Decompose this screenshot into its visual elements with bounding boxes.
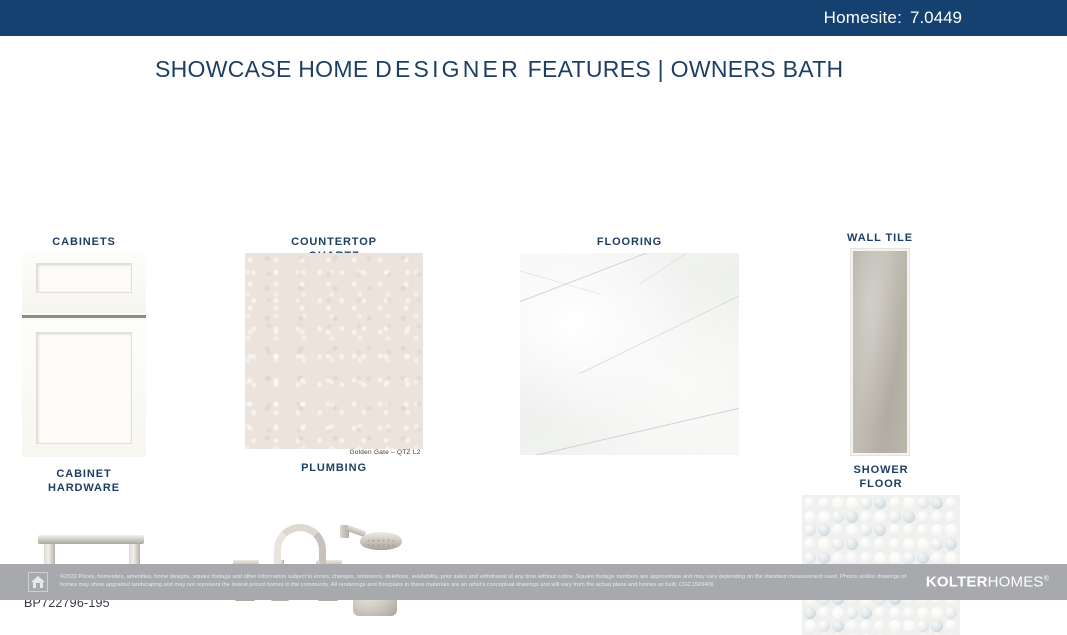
penny-tile xyxy=(945,538,957,550)
homesite-label: Homesite: xyxy=(824,8,902,28)
penny-tile xyxy=(903,538,915,550)
page-title-designer: DESIGNER xyxy=(375,56,521,82)
shower-floor-label-line2: FLOOR xyxy=(802,477,960,491)
penny-tile xyxy=(945,497,957,509)
cabinet-reveal-line xyxy=(22,315,146,318)
penny-tile xyxy=(804,620,816,632)
penny-tile xyxy=(903,620,915,632)
homesite-value: 7.0449 xyxy=(910,8,962,28)
penny-tile xyxy=(860,538,872,550)
cabinet-swatch xyxy=(22,251,146,457)
countertop-caption: Golden Gate – QTZ L2 xyxy=(300,449,470,456)
equal-housing-opportunity-icon xyxy=(28,572,48,592)
cabinet-drawer-panel xyxy=(36,263,132,293)
kolter-homes-logo: KOLTERHOMES® xyxy=(926,574,1049,591)
penny-tile xyxy=(874,497,886,509)
materials-board: CABINETS COUNTERTOP QUARTZ Golden Gate –… xyxy=(0,83,1067,553)
penny-tile xyxy=(945,524,957,536)
penny-tile xyxy=(846,511,858,523)
shower-floor-label-line1: SHOWER xyxy=(802,463,960,477)
penny-tile xyxy=(832,497,844,509)
penny-tile xyxy=(917,538,929,550)
penny-tile xyxy=(945,511,957,523)
brand-trademark: ® xyxy=(1044,576,1049,583)
penny-tile xyxy=(860,497,872,509)
wall-tile-swatch xyxy=(851,249,909,455)
penny-tile xyxy=(889,607,901,619)
page-title: SHOWCASE HOME DESIGNER FEATURES | OWNERS… xyxy=(155,56,1067,83)
penny-tile xyxy=(889,552,901,564)
penny-tile xyxy=(832,538,844,550)
penny-tile xyxy=(846,607,858,619)
shower-head-face xyxy=(366,538,396,548)
penny-tile xyxy=(874,620,886,632)
section-label-cabinets: CABINETS xyxy=(22,235,146,249)
pull-bar xyxy=(38,535,144,544)
penny-tile xyxy=(874,524,886,536)
section-label-wall-tile: WALL TILE xyxy=(830,231,930,245)
penny-tile xyxy=(945,607,957,619)
penny-tile xyxy=(917,497,929,509)
penny-tile xyxy=(804,552,816,564)
penny-tile xyxy=(846,524,858,536)
cabinet-hardware-label-line1: CABINET xyxy=(22,467,146,481)
cabinet-hardware-label-line2: HARDWARE xyxy=(22,481,146,495)
section-label-plumbing: PLUMBING xyxy=(245,461,423,475)
section-label-flooring: FLOORING xyxy=(520,235,739,249)
cabinet-drawer-front xyxy=(22,251,146,313)
brand-bold: KOLTER xyxy=(926,574,988,591)
penny-tile xyxy=(818,620,830,632)
penny-tile xyxy=(832,524,844,536)
penny-tile xyxy=(804,538,816,550)
penny-tile xyxy=(931,607,943,619)
countertop-swatch xyxy=(245,253,423,449)
penny-tile xyxy=(846,620,858,632)
penny-tile xyxy=(818,511,830,523)
countertop-label-line1: COUNTERTOP xyxy=(245,235,423,249)
penny-tile xyxy=(832,511,844,523)
footer-disclaimer: ©2022 Prices, homesites, amenities, home… xyxy=(60,574,920,589)
brand-light: HOMES xyxy=(988,574,1044,591)
penny-tile xyxy=(889,524,901,536)
penny-tile xyxy=(818,607,830,619)
penny-tile xyxy=(931,497,943,509)
penny-tile xyxy=(917,552,929,564)
penny-tile xyxy=(903,497,915,509)
penny-tile xyxy=(889,620,901,632)
penny-tile xyxy=(832,620,844,632)
cabinet-door-front xyxy=(22,320,146,457)
penny-tile xyxy=(818,497,830,509)
penny-tile xyxy=(945,620,957,632)
penny-tile xyxy=(818,552,830,564)
penny-tile xyxy=(889,497,901,509)
penny-tile xyxy=(903,552,915,564)
penny-tile xyxy=(931,620,943,632)
penny-tile xyxy=(903,511,915,523)
penny-tile xyxy=(889,511,901,523)
penny-tile xyxy=(818,524,830,536)
penny-tile xyxy=(931,552,943,564)
penny-tile xyxy=(860,607,872,619)
penny-tile xyxy=(917,511,929,523)
penny-tile xyxy=(903,524,915,536)
penny-tile xyxy=(931,511,943,523)
wall-tile-sheen xyxy=(853,251,907,453)
penny-tile xyxy=(945,552,957,564)
penny-tile xyxy=(917,524,929,536)
section-label-shower-floor: SHOWER FLOOR xyxy=(802,463,960,491)
penny-tile xyxy=(818,538,830,550)
penny-tile xyxy=(804,607,816,619)
penny-tile xyxy=(917,620,929,632)
section-label-cabinet-hardware: CABINET HARDWARE xyxy=(22,467,146,495)
penny-tile xyxy=(846,552,858,564)
penny-tile xyxy=(804,511,816,523)
penny-tile xyxy=(931,524,943,536)
penny-tile xyxy=(860,552,872,564)
penny-tile xyxy=(846,497,858,509)
penny-tile xyxy=(917,607,929,619)
penny-tile xyxy=(804,524,816,536)
page-title-part1: SHOWCASE HOME xyxy=(155,56,375,82)
penny-tile xyxy=(832,607,844,619)
title-container: SHOWCASE HOME DESIGNER FEATURES | OWNERS… xyxy=(0,36,1067,83)
penny-tile xyxy=(874,552,886,564)
penny-tile xyxy=(804,497,816,509)
penny-tile xyxy=(860,511,872,523)
page-title-part2: FEATURES | OWNERS BATH xyxy=(521,56,844,82)
top-header-bar: Homesite: 7.0449 xyxy=(0,0,1067,36)
penny-tile xyxy=(903,607,915,619)
penny-tile xyxy=(931,538,943,550)
footer-bar: ©2022 Prices, homesites, amenities, home… xyxy=(0,564,1067,600)
faucet-spout-arc xyxy=(274,524,326,568)
penny-tile xyxy=(874,511,886,523)
penny-tile xyxy=(860,620,872,632)
cabinet-door-panel xyxy=(36,332,132,444)
penny-tile xyxy=(846,538,858,550)
penny-tile xyxy=(860,524,872,536)
penny-tile xyxy=(832,552,844,564)
penny-tile xyxy=(874,538,886,550)
marble-base xyxy=(520,253,739,455)
flooring-swatch xyxy=(520,253,739,455)
penny-tile xyxy=(889,538,901,550)
penny-tile xyxy=(874,607,886,619)
